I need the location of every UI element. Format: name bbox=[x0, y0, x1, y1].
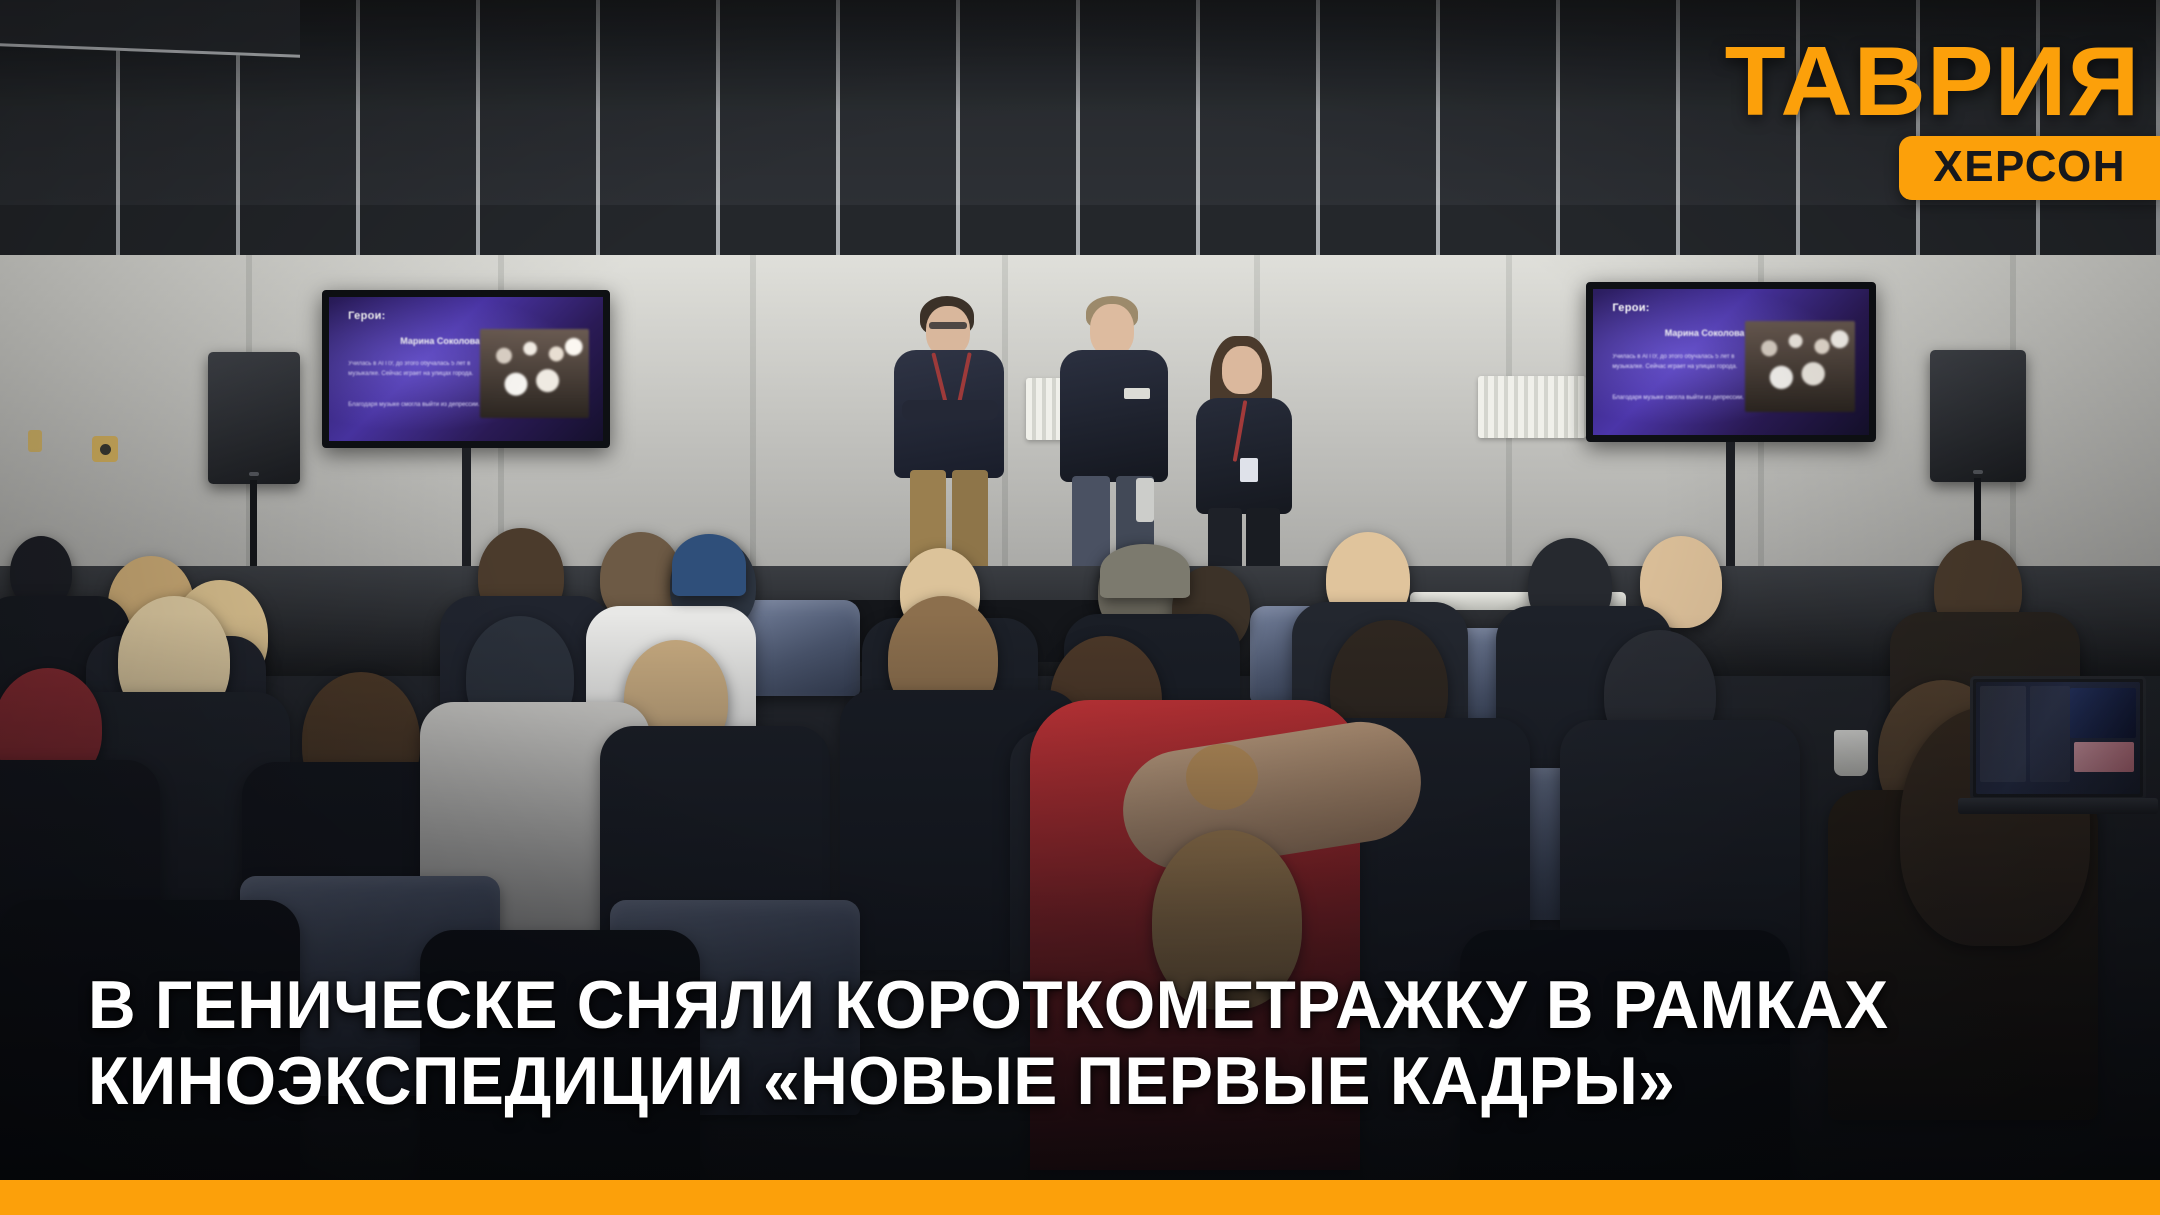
slide-heading-left: Герои: bbox=[348, 310, 385, 322]
laptop-preview-2 bbox=[2074, 742, 2134, 772]
laptop-panel-left bbox=[1980, 686, 2026, 782]
laptop-base bbox=[1958, 798, 2158, 814]
person-left-head bbox=[926, 306, 970, 356]
channel-logo-text: ТАВРИЯ bbox=[1724, 34, 2160, 128]
presentation-screen-left: Герои: Марина Соколова Училась в АГПУ, д… bbox=[322, 290, 610, 448]
channel-logo: ТАВРИЯ ХЕРСОН bbox=[1729, 34, 2160, 200]
slide-body2-right: Благодаря музыке смогла выйти из депресс… bbox=[1612, 394, 1744, 403]
slide-photo-right bbox=[1745, 321, 1855, 412]
paper-cup bbox=[1834, 730, 1868, 776]
slide-body-left: Училась в АГПУ, до этого обучалась 5 лет… bbox=[348, 360, 480, 379]
person-center-torso bbox=[1060, 350, 1168, 482]
person-left-glasses bbox=[929, 322, 967, 329]
radiator-right bbox=[1478, 376, 1586, 438]
person-center-head bbox=[1090, 304, 1134, 356]
headline-line-2: КИНОЭКСПЕДИЦИИ «НОВЫЕ ПЕРВЫЕ КАДРЫ» bbox=[88, 1043, 1888, 1119]
slide-name-right: Марина Соколова bbox=[1665, 328, 1745, 338]
wall-lock-core bbox=[100, 444, 111, 455]
wall-fixture bbox=[28, 430, 42, 452]
laptop-preview bbox=[2070, 688, 2136, 738]
person-right-badge bbox=[1240, 458, 1258, 482]
person-center-badge bbox=[1136, 478, 1154, 522]
headline-block: В ГЕНИЧЕСКЕ СНЯЛИ КОРОТКОМЕТРАЖКУ В РАМК… bbox=[88, 967, 1944, 1119]
pa-speaker-right bbox=[1930, 350, 2026, 482]
slide-heading-right: Герои: bbox=[1612, 302, 1649, 314]
slide-name-left: Марина Соколова bbox=[400, 336, 480, 346]
person-right-head bbox=[1222, 346, 1262, 394]
slide-photo-left bbox=[480, 329, 590, 418]
chair bbox=[740, 600, 860, 696]
audience-cap bbox=[1100, 544, 1190, 598]
broadcast-frame: Герои: Марина Соколова Училась в АГПУ, д… bbox=[0, 0, 2160, 1215]
audience-hair-bun bbox=[1186, 744, 1258, 810]
audience-kippah bbox=[672, 534, 746, 596]
presentation-screen-right: Герои: Марина Соколова Училась в АГПУ, д… bbox=[1586, 282, 1876, 442]
laptop-panel-mid bbox=[2030, 686, 2070, 782]
slide-body2-left: Благодаря музыке смогла выйти из депресс… bbox=[348, 401, 480, 410]
bottom-accent-bar bbox=[0, 1180, 2160, 1215]
laptop-display bbox=[1976, 682, 2140, 794]
laptop-screen bbox=[1970, 676, 2146, 800]
channel-city-badge: ХЕРСОН bbox=[1899, 136, 2160, 200]
person-left-arms bbox=[902, 400, 998, 420]
person-center-logo-patch bbox=[1124, 388, 1150, 399]
wall-transition-strip bbox=[0, 205, 2160, 257]
slide-body-right: Училась в АГПУ, до этого обучалась 5 лет… bbox=[1612, 353, 1744, 372]
headline-line-1: В ГЕНИЧЕСКЕ СНЯЛИ КОРОТКОМЕТРАЖКУ В РАМК… bbox=[88, 967, 1888, 1043]
pa-speaker-left bbox=[208, 352, 300, 484]
